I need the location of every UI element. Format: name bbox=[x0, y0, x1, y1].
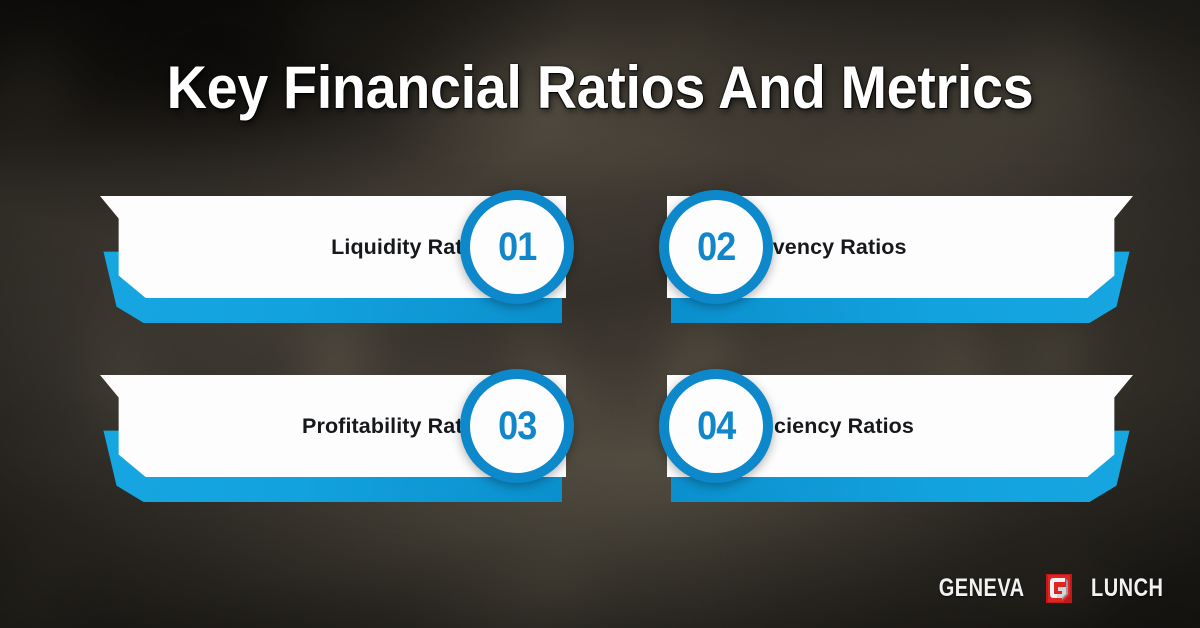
page-title: Key Financial Ratios And Metrics bbox=[42, 56, 1158, 119]
brand-logo[interactable]: GENEVA LUNCH bbox=[928, 573, 1172, 604]
card-number: 01 bbox=[498, 227, 536, 267]
card-number: 04 bbox=[697, 406, 735, 446]
metric-card-03[interactable]: Profitability Ratios 03 bbox=[100, 375, 566, 477]
card-number: 03 bbox=[498, 406, 536, 446]
card-number-badge[interactable]: 01 bbox=[460, 190, 574, 304]
card-number-badge[interactable]: 04 bbox=[659, 369, 773, 483]
metric-card-01[interactable]: Liquidity Ratios 01 bbox=[100, 196, 566, 298]
card-number-badge[interactable]: 02 bbox=[659, 190, 773, 304]
geneva-g-mark-icon bbox=[1044, 573, 1074, 604]
brand-name-geneva: GENEVA bbox=[939, 574, 1025, 603]
brand-name-lunch: LUNCH bbox=[1091, 574, 1163, 603]
card-number: 02 bbox=[697, 227, 735, 267]
infographic-canvas: Key Financial Ratios And Metrics Liquidi… bbox=[0, 0, 1200, 628]
card-number-badge[interactable]: 03 bbox=[460, 369, 574, 483]
metric-card-04[interactable]: Efficiency Ratios 04 bbox=[667, 375, 1133, 477]
metric-card-02[interactable]: Solvency Ratios 02 bbox=[667, 196, 1133, 298]
